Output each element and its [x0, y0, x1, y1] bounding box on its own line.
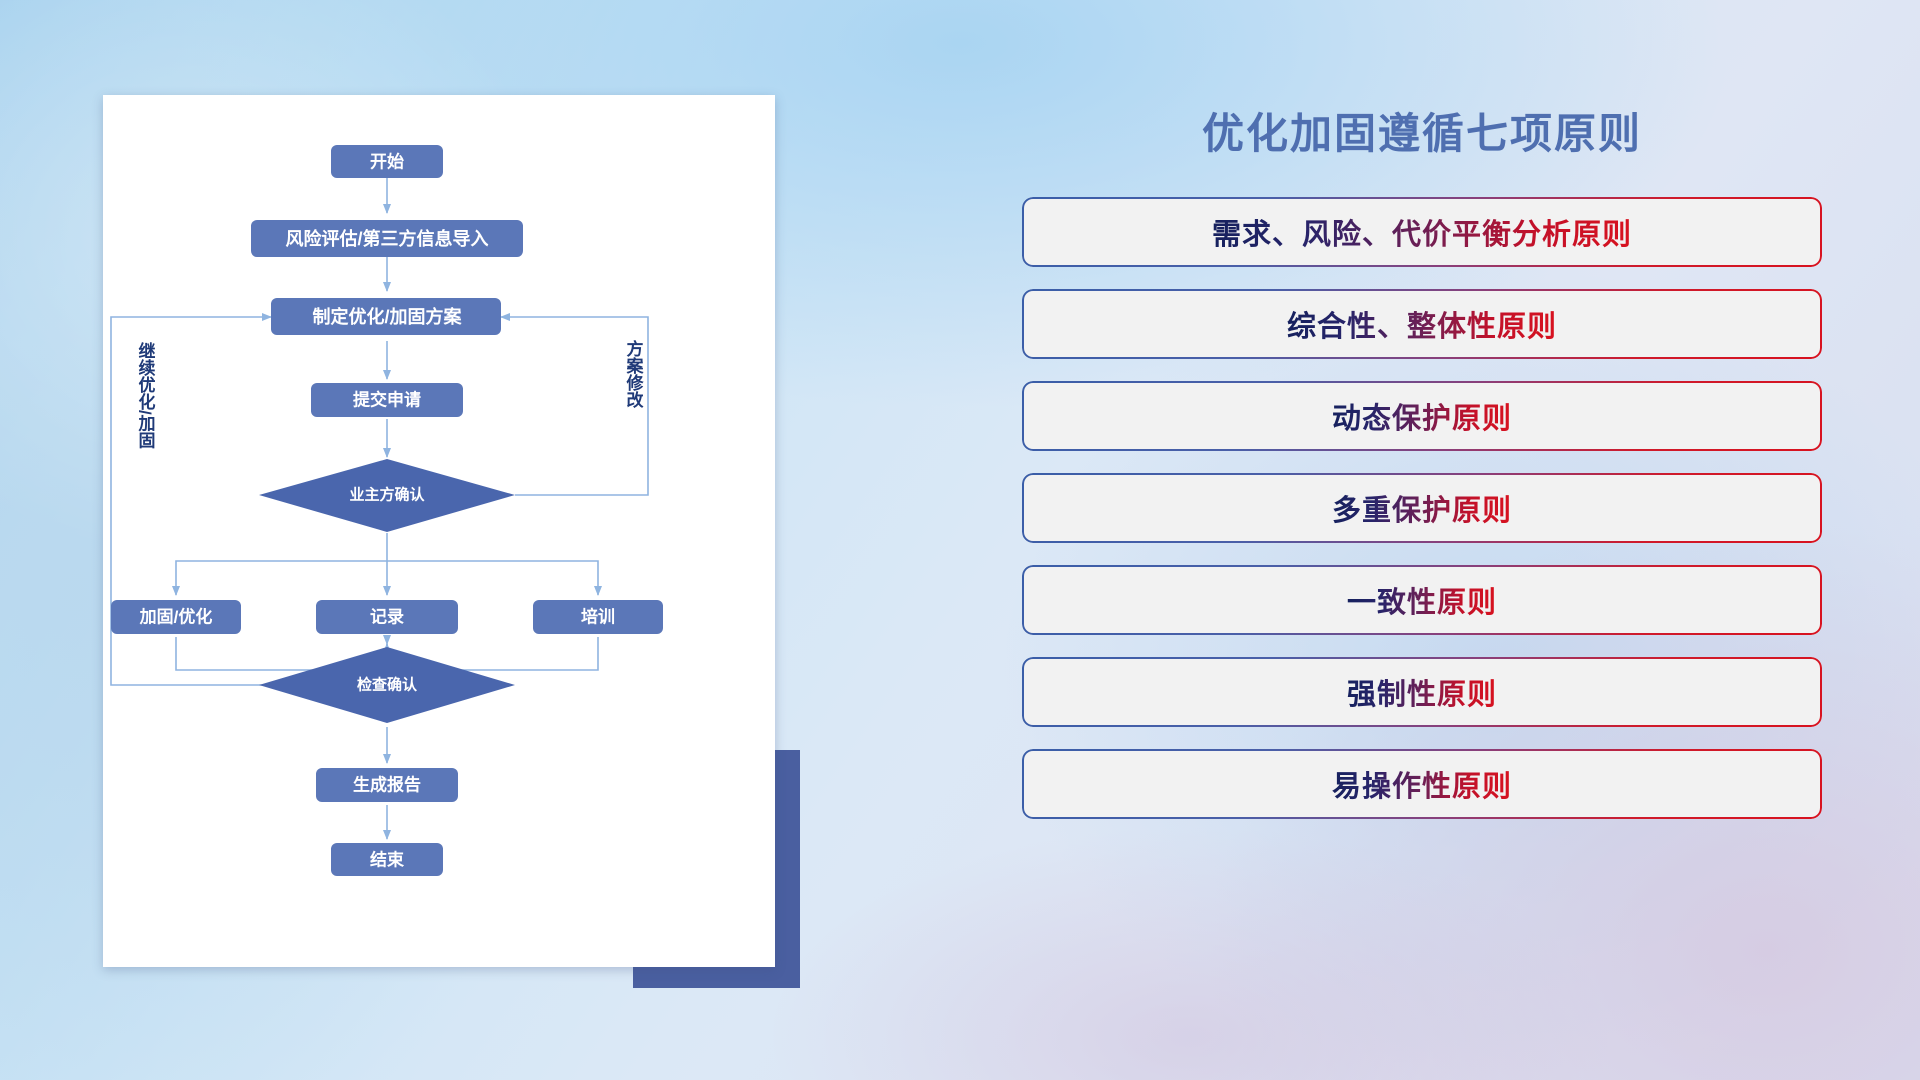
principle-card[interactable]: 综合性、整体性原则	[1022, 289, 1822, 359]
flow-node-make-plan-label: 制定优化/加固方案	[312, 306, 462, 327]
flow-node-training-label: 培训	[581, 607, 615, 627]
flow-node-record-label: 记录	[370, 608, 404, 627]
flow-node-generate-report-label: 生成报告	[353, 775, 421, 795]
flowchart-diagram: 开始 风险评估/第三方信息导入 制定优化/加固方案 提交申请 业主方确认 加固/…	[103, 95, 775, 967]
principle-card[interactable]: 动态保护原则	[1022, 381, 1822, 451]
flow-node-generate-report[interactable]: 生成报告	[316, 768, 458, 802]
flow-node-start-label: 开始	[370, 152, 404, 172]
principle-card[interactable]: 易操作性原则	[1022, 749, 1822, 819]
flow-node-reinforce-optimize-label: 加固/优化	[139, 607, 213, 627]
principle-card-label: 一致性原则	[1347, 579, 1497, 621]
flow-node-end[interactable]: 结束	[331, 843, 443, 876]
flow-node-check-confirm[interactable]: 检查确认	[259, 647, 515, 723]
flow-node-make-plan[interactable]: 制定优化/加固方案	[271, 298, 501, 335]
flow-node-start[interactable]: 开始	[331, 145, 443, 178]
flow-node-submit-application-label: 提交申请	[353, 390, 421, 410]
principles-panel: 优化加固遵循七项原则 需求、风险、代价平衡分析原则 综合性、整体性原则 动态保护…	[1022, 95, 1822, 995]
flow-label-left-loop: 继续优化/加固	[136, 341, 157, 450]
flow-node-check-confirm-label: 检查确认	[357, 676, 418, 694]
flow-node-end-label: 结束	[370, 850, 404, 870]
flow-node-training[interactable]: 培训	[533, 600, 663, 634]
principle-card-label: 易操作性原则	[1332, 763, 1512, 805]
flowchart-panel: 开始 风险评估/第三方信息导入 制定优化/加固方案 提交申请 业主方确认 加固/…	[103, 95, 775, 967]
flow-node-owner-confirm[interactable]: 业主方确认	[259, 459, 515, 532]
principle-card-label: 综合性、整体性原则	[1287, 303, 1557, 345]
principle-card-label: 需求、风险、代价平衡分析原则	[1212, 211, 1632, 253]
principles-list: 需求、风险、代价平衡分析原则 综合性、整体性原则 动态保护原则 多重保护原则 一…	[1022, 197, 1822, 819]
flow-node-risk-assessment-label: 风险评估/第三方信息导入	[286, 228, 489, 249]
flow-node-owner-confirm-label: 业主方确认	[349, 486, 425, 504]
page-title: 优化加固遵循七项原则	[1022, 95, 1822, 173]
principle-card[interactable]: 多重保护原则	[1022, 473, 1822, 543]
flow-label-right-loop: 方案修改	[624, 339, 645, 409]
principle-card[interactable]: 需求、风险、代价平衡分析原则	[1022, 197, 1822, 267]
principle-card[interactable]: 强制性原则	[1022, 657, 1822, 727]
flow-node-reinforce-optimize[interactable]: 加固/优化	[111, 600, 241, 634]
flow-node-risk-assessment[interactable]: 风险评估/第三方信息导入	[251, 220, 523, 257]
principle-card[interactable]: 一致性原则	[1022, 565, 1822, 635]
principle-card-label: 动态保护原则	[1332, 395, 1512, 437]
flow-node-record[interactable]: 记录	[316, 600, 458, 634]
flow-node-submit-application[interactable]: 提交申请	[311, 383, 463, 417]
principle-card-label: 强制性原则	[1347, 671, 1497, 713]
principle-card-label: 多重保护原则	[1332, 487, 1512, 529]
